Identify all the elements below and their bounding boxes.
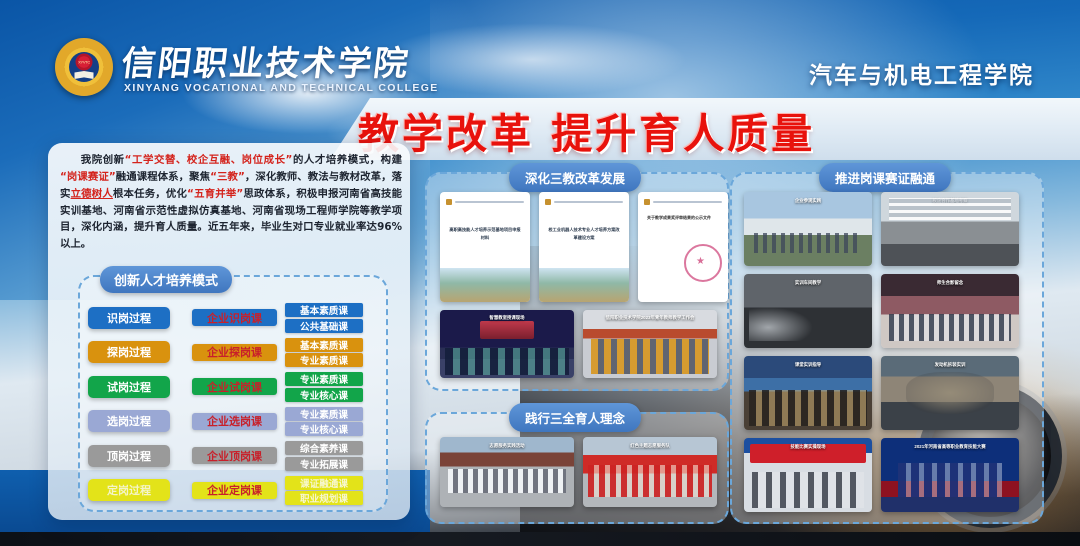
- talent-model-row: 选岗过程企业选岗课专业素质课专业核心课: [88, 406, 378, 438]
- talent-model-row: 定岗过程企业定岗课课证融通课职业规划课: [88, 475, 378, 507]
- photo-caption: 发动机拆装实训: [881, 362, 1019, 368]
- photo-caption: 师生合影留念: [881, 280, 1019, 286]
- background-bottom-bar: [0, 532, 1080, 546]
- subject-course-label: 专业核心课: [285, 422, 363, 436]
- photo-caption: 志愿服务实践活动: [440, 443, 574, 449]
- document-rule: [653, 201, 722, 203]
- photo-thumbnail: 志愿服务实践活动: [440, 437, 574, 507]
- subject-course-group: 专业素质课专业核心课: [285, 372, 363, 402]
- subject-course-label: 专业核心课: [285, 388, 363, 402]
- reform-document-row: 高职高技能人才培养示范基地项目申报材料校工业机器人技术专业人才培养方案改革建设方…: [440, 192, 728, 302]
- document-logo-icon: [644, 199, 650, 205]
- photo-thumbnail: 校企合作基地考察: [881, 192, 1019, 266]
- document-title: 校工业机器人技术专业人才培养方案改革建设方案: [548, 226, 620, 242]
- subject-course-label: 专业素质课: [285, 407, 363, 421]
- photo-thumbnail: 实训车间教学: [744, 274, 872, 348]
- enterprise-course-label: 企业顶岗课: [192, 447, 277, 464]
- process-stage-label: 选岗过程: [88, 410, 170, 432]
- subject-course-label: 综合素养课: [285, 441, 363, 455]
- process-stage-label: 识岗过程: [88, 307, 170, 329]
- talent-model-rows: 识岗过程企业识岗课基本素质课公共基础课探岗过程企业探岗课基本素质课专业素质课试岗…: [88, 302, 378, 509]
- talent-model-title: 创新人才培养模式: [100, 266, 232, 293]
- process-stage-label: 顶岗过程: [88, 445, 170, 467]
- enterprise-course-label: 企业定岗课: [192, 482, 277, 499]
- subject-course-label: 课证融通课: [285, 476, 363, 490]
- document-logo-icon: [446, 199, 452, 205]
- intro-fragment: 融通课程体系，聚焦: [116, 171, 210, 183]
- enterprise-course-label: 企业选岗课: [192, 413, 277, 430]
- subject-course-label: 专业拓展课: [285, 457, 363, 471]
- photo-caption: 技能比赛实操现场: [744, 444, 872, 450]
- intro-fragment: “岗课赛证”: [60, 171, 116, 183]
- photo-caption: 实训车间教学: [744, 280, 872, 286]
- intro-fragment: “五育并举”: [187, 188, 243, 200]
- department-name: 汽车与机电工程学院: [809, 56, 1034, 90]
- college-name-cn: 信阳职业技术学院: [119, 36, 413, 85]
- competition-photo-grid: 企业参观实践校企合作基地考察实训车间教学师生合影留念课堂实训指导发动机拆装实训技…: [744, 192, 1019, 512]
- crest-bloom-icon: XYVTC: [76, 53, 93, 70]
- enterprise-course-label: 企业试岗课: [192, 378, 277, 395]
- talent-model-row: 试岗过程企业试岗课专业素质课专业核心课: [88, 371, 378, 403]
- reform-photo-row: 智慧教室授课现场信阳职业技术学院2023年青年教师教学工作会: [440, 310, 717, 378]
- intro-fragment: 根本任务，优化: [113, 188, 187, 200]
- document-cover-image: [539, 268, 629, 302]
- subject-course-label: 公共基础课: [285, 319, 363, 333]
- subject-course-label: 专业素质课: [285, 353, 363, 367]
- photo-caption: 信阳职业技术学院2023年青年教师教学工作会: [583, 315, 717, 321]
- photo-thumbnail: 红色主题志愿服务队: [583, 437, 717, 507]
- photo-caption: 红色主题志愿服务队: [583, 443, 717, 449]
- document-title: 关于教学成果奖评审结果的公示文件: [647, 214, 719, 222]
- subject-course-label: 职业规划课: [285, 491, 363, 505]
- subject-course-label: 专业素质课: [285, 372, 363, 386]
- talent-model-row: 识岗过程企业识岗课基本素质课公共基础课: [88, 302, 378, 334]
- poster-canvas: XYVTC 信阳职业技术学院 XINYANG VOCATIONAL AND TE…: [0, 0, 1080, 546]
- intro-fragment: “工学交替、校企互融、岗位成长”: [125, 154, 293, 166]
- photo-thumbnail: 技能比赛实操现场: [744, 438, 872, 512]
- subject-course-group: 综合素养课专业拓展课: [285, 441, 363, 471]
- intro-fragment: “三教”: [210, 171, 245, 183]
- photo-caption: 智慧教室授课现场: [440, 315, 574, 321]
- document-header-strip: [446, 198, 524, 205]
- subject-course-group: 基本素质课公共基础课: [285, 303, 363, 333]
- seal-star-icon: ★: [696, 256, 705, 267]
- subject-course-label: 基本素质课: [285, 338, 363, 352]
- photo-thumbnail: 课堂实训指导: [744, 356, 872, 430]
- document-logo-icon: [545, 199, 551, 205]
- photo-thumbnail: 发动机拆装实训: [881, 356, 1019, 430]
- subject-course-group: 课证融通课职业规划课: [285, 476, 363, 506]
- intro-fragment: 立德树人: [71, 188, 113, 200]
- photo-thumbnail: 2021年河南省高等职业教育技能大赛: [881, 438, 1019, 512]
- college-name-en: XINYANG VOCATIONAL AND TECHNICAL COLLEGE: [124, 82, 439, 94]
- crest-book-icon: [75, 71, 94, 79]
- photo-thumbnail: 企业参观实践: [744, 192, 872, 266]
- document-cover: 校工业机器人技术专业人才培养方案改革建设方案: [539, 192, 629, 302]
- photo-thumbnail: 智慧教室授课现场: [440, 310, 574, 378]
- document-header-strip: [644, 198, 722, 205]
- document-cover: 高职高技能人才培养示范基地项目申报材料: [440, 192, 530, 302]
- talent-model-row: 探岗过程企业探岗课基本素质课专业素质课: [88, 337, 378, 369]
- subject-course-label: 基本素质课: [285, 303, 363, 317]
- document-header-strip: [545, 198, 623, 205]
- panel-reform-title: 深化三教改革发展: [509, 163, 641, 192]
- photo-caption: 2021年河南省高等职业教育技能大赛: [881, 444, 1019, 450]
- process-stage-label: 探岗过程: [88, 341, 170, 363]
- talent-model-row: 顶岗过程企业顶岗课综合素养课专业拓展课: [88, 440, 378, 472]
- photo-caption: 企业参观实践: [744, 198, 872, 204]
- intro-paragraph: 我院创新“工学交替、校企互融、岗位成长”的人才培养模式，构建“岗课赛证”融通课程…: [60, 152, 402, 253]
- document-rule: [554, 201, 623, 203]
- panel-competition-title: 推进岗课赛证融通: [819, 163, 951, 192]
- subject-course-group: 专业素质课专业核心课: [285, 407, 363, 437]
- panel-education-title: 践行三全育人理念: [509, 403, 641, 432]
- document-cover-image: [440, 268, 530, 302]
- photo-thumbnail: 信阳职业技术学院2023年青年教师教学工作会: [583, 310, 717, 378]
- enterprise-course-label: 企业探岗课: [192, 344, 277, 361]
- enterprise-course-label: 企业识岗课: [192, 309, 277, 326]
- subject-course-group: 基本素质课专业素质课: [285, 338, 363, 368]
- photo-caption: 校企合作基地考察: [881, 198, 1019, 204]
- photo-caption: 课堂实训指导: [744, 362, 872, 368]
- process-stage-label: 试岗过程: [88, 376, 170, 398]
- intro-fragment: 的人才培养模式，构建: [292, 154, 402, 166]
- page-title: 教学改革 提升育人质量: [358, 102, 1058, 158]
- education-photo-row: 志愿服务实践活动红色主题志愿服务队: [440, 437, 717, 507]
- college-crest-icon: XYVTC: [55, 38, 113, 96]
- process-stage-label: 定岗过程: [88, 479, 170, 501]
- document-rule: [455, 201, 524, 203]
- photo-thumbnail: 师生合影留念: [881, 274, 1019, 348]
- intro-fragment: 我院创新: [81, 154, 125, 166]
- document-title: 高职高技能人才培养示范基地项目申报材料: [449, 226, 521, 242]
- document-cover: 关于教学成果奖评审结果的公示文件★: [638, 192, 728, 302]
